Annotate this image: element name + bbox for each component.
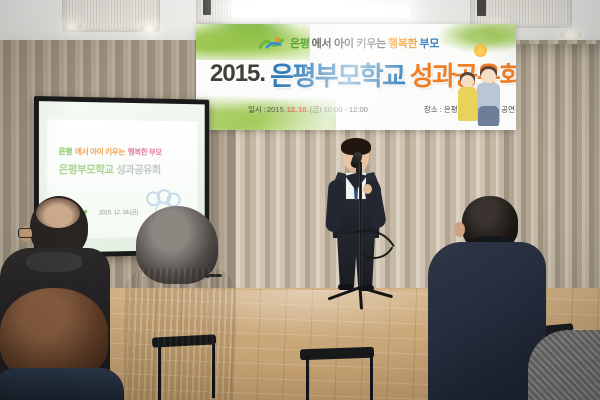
audience-torso: [528, 330, 600, 400]
recessed-downlight: [140, 24, 159, 33]
eyeglasses-icon: [18, 228, 36, 238]
audience-member-foreground-right: [528, 330, 600, 400]
banner-glare: [196, 24, 516, 130]
vent-grille: [474, 0, 568, 24]
event-banner: 은평 에서 아이 키우는 행복한 부모 2015. 은평부모학교 성과공유회 개…: [196, 24, 516, 130]
slide-subtitle: 은평 에서 아이 키우는 행복한 부모: [59, 145, 189, 159]
audience-scalp: [36, 198, 80, 228]
slide-subtitle-part: 은평: [59, 146, 73, 157]
slide-subtitle-part: 행복한 부모: [128, 147, 162, 158]
audience-torso: [0, 368, 124, 400]
chair-leg: [306, 356, 309, 400]
recessed-downlight: [62, 22, 82, 31]
slide-title-part: 은평부모학교: [59, 161, 114, 177]
conference-photo-scene: 은평 에서 아이 키우는 행복한 부모 2015. 은평부모학교 성과공유회 개…: [0, 0, 600, 400]
audience-member-center-woman: [120, 206, 238, 400]
presenter-hand: [363, 184, 372, 194]
vent-slot: [203, 0, 211, 15]
chair-leg: [370, 356, 373, 400]
audience-torso: [124, 268, 236, 400]
audience-ear: [454, 222, 465, 237]
audience-hair: [0, 288, 108, 380]
audience-member-foreground-woman: [0, 288, 124, 400]
slide-subtitle-part: 에서 아이 키우는: [75, 146, 125, 157]
audience-collar: [26, 252, 82, 272]
slide-title: 은평부모학교 성과공유회: [59, 161, 191, 177]
recessed-downlight: [560, 30, 582, 40]
slide-title-part: 성과공유회: [116, 161, 160, 177]
ceiling-light-panel: [232, 0, 410, 18]
vent-slot: [477, 0, 486, 16]
